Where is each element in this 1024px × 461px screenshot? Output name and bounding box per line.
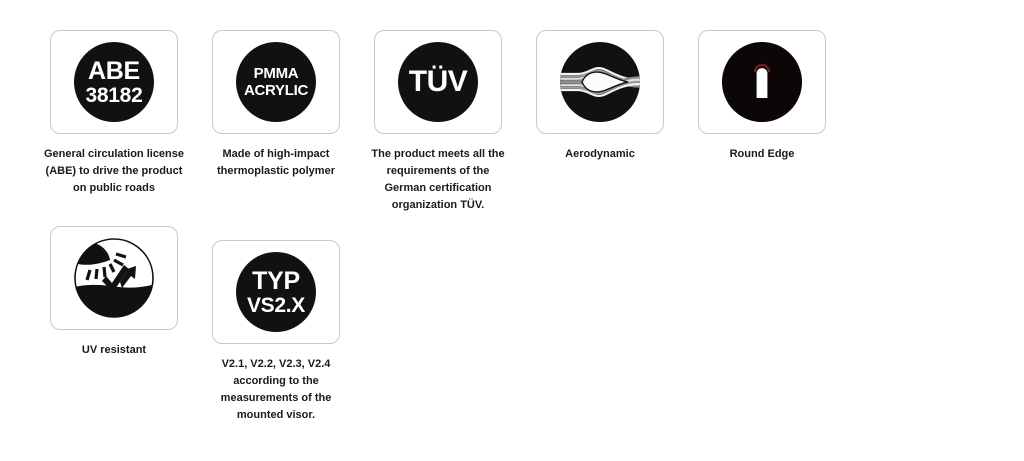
feature-badge-grid: ABE 38182 General circulation license (A…	[50, 30, 1010, 436]
tuv-badge-icon: TÜV	[398, 42, 478, 122]
badge-card-round-edge[interactable]	[698, 30, 826, 134]
feature-item-abe[interactable]: ABE 38182 General circulation license (A…	[50, 30, 178, 214]
pmma-acrylic-badge-icon: PMMA ACRYLIC	[236, 42, 316, 122]
tuv-badge-line-1: TÜV	[409, 67, 468, 97]
badge-card-pmma[interactable]: PMMA ACRYLIC	[212, 30, 340, 134]
badge-card-tuv[interactable]: TÜV	[374, 30, 502, 134]
feature-item-typ[interactable]: TYP VS2.X V2.1, V2.2, V2.3, V2.4 accordi…	[212, 240, 340, 424]
uv-resistant-glyph	[74, 238, 154, 318]
feature-label-typ: V2.1, V2.2, V2.3, V2.4 according to the …	[206, 356, 346, 424]
feature-label-round-edge: Round Edge	[692, 146, 832, 163]
feature-label-abe: General circulation license (ABE) to dri…	[44, 146, 184, 197]
typ-badge-line-1: TYP	[252, 269, 300, 294]
aerodynamic-airflow-icon	[560, 42, 640, 122]
badge-card-abe[interactable]: ABE 38182	[50, 30, 178, 134]
feature-label-aerodynamic: Aerodynamic	[530, 146, 670, 163]
pmma-badge-line-1: PMMA	[254, 66, 299, 81]
abe-badge-line-1: ABE	[88, 59, 140, 84]
feature-item-uv-resistant[interactable]: UV resistant	[50, 226, 178, 424]
feature-label-uv-resistant: UV resistant	[44, 342, 184, 359]
aerodynamic-airflow-glyph	[560, 42, 640, 122]
badge-card-aerodynamic[interactable]	[536, 30, 664, 134]
feature-item-aerodynamic[interactable]: Aerodynamic	[536, 30, 664, 214]
feature-label-tuv: The product meets all the requirements o…	[368, 146, 508, 214]
round-edge-glyph	[722, 42, 802, 122]
badge-card-typ[interactable]: TYP VS2.X	[212, 240, 340, 344]
uv-resistant-sun-icon	[74, 238, 154, 318]
badge-card-uv-resistant[interactable]	[50, 226, 178, 330]
typ-badge-line-2: VS2.X	[247, 295, 305, 316]
feature-item-pmma[interactable]: PMMA ACRYLIC Made of high-impact thermop…	[212, 30, 340, 214]
feature-item-tuv[interactable]: TÜV The product meets all the requiremen…	[374, 30, 502, 214]
abe-badge-icon: ABE 38182	[74, 42, 154, 122]
feature-item-round-edge[interactable]: Round Edge	[698, 30, 826, 214]
pmma-badge-line-2: ACRYLIC	[244, 83, 308, 98]
feature-label-pmma: Made of high-impact thermoplastic polyme…	[206, 146, 346, 180]
abe-badge-line-2: 38182	[86, 85, 143, 106]
round-edge-icon	[722, 42, 802, 122]
typ-vs2x-badge-icon: TYP VS2.X	[236, 252, 316, 332]
